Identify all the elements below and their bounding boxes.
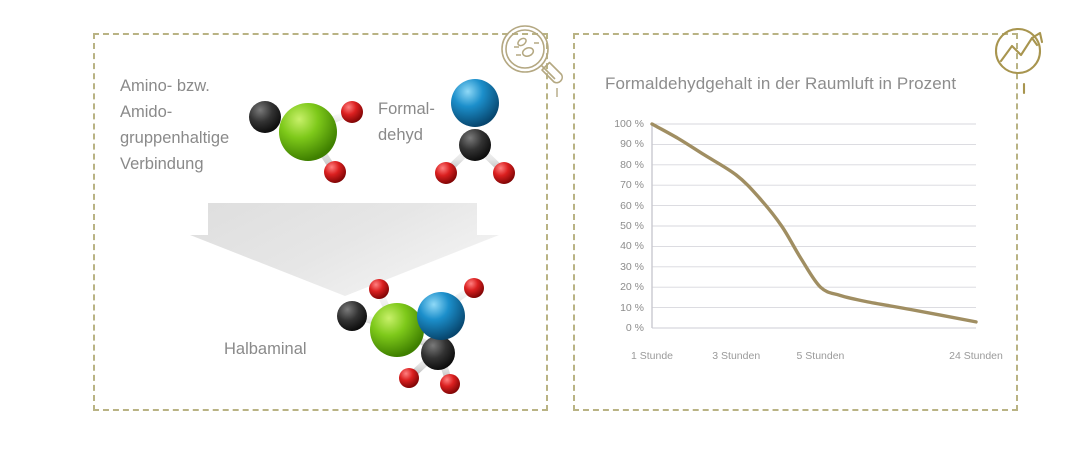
- data-line: [652, 124, 976, 322]
- amino-compound-label: Amino- bzw. Amido- gruppenhaltige Verbin…: [120, 73, 255, 177]
- x-axis-tick: 5 Stunden: [797, 350, 845, 362]
- x-axis-tick: 24 Stunden: [949, 350, 1003, 362]
- infographic-stage: Amino- bzw. Amido- gruppenhaltige Verbin…: [0, 0, 1080, 462]
- x-axis-tick: 3 Stunden: [712, 350, 760, 362]
- magnifier-molecules-icon: [497, 21, 569, 97]
- amino-compound-molecule: [240, 80, 370, 190]
- hemiaminal-product-label: Halbaminal: [224, 338, 307, 360]
- chart-title: Formaldehydgehalt in der Raumluft in Pro…: [605, 74, 956, 94]
- line-chart: 100 %90 %80 %70 %60 %50 %40 %30 %20 %10 …: [598, 118, 998, 380]
- hemiaminal-molecule: [327, 272, 503, 400]
- trend-chart-circle-icon: [988, 21, 1060, 97]
- chart-plot-area: [598, 118, 998, 380]
- x-axis-tick: 1 Stunde: [631, 350, 673, 362]
